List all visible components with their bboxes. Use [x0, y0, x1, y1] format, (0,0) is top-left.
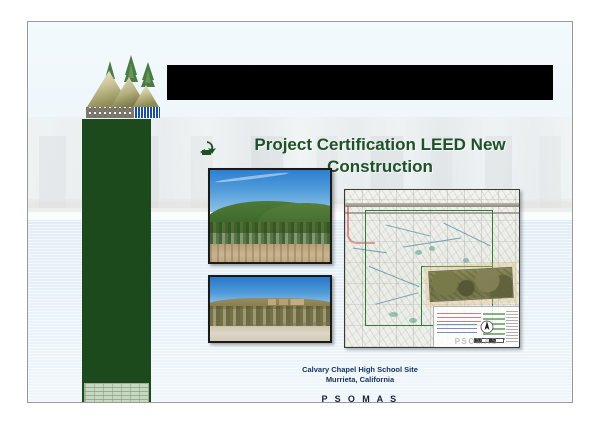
slide-canvas: Project Certification LEED New Construct… [28, 22, 572, 402]
north-arrow-icon [480, 319, 494, 335]
brand-name: P S O M A S [167, 394, 553, 402]
photo-cloud [215, 171, 289, 183]
site-photo-hillside [208, 168, 332, 264]
site-caption-line-1: Calvary Chapel High School Site [167, 365, 553, 375]
logo-wordmark-text [86, 107, 134, 118]
brandmark: P S O M A S Enhancing the Natural and Bu… [167, 394, 553, 402]
photo-ground-texture [210, 244, 330, 262]
map-legend-title [437, 310, 481, 322]
site-photo-dirt-road [208, 275, 332, 343]
logo-wordmark [86, 106, 160, 119]
leaf-arrow-icon [200, 140, 219, 157]
header-banner [167, 65, 553, 100]
site-caption: Calvary Chapel High School Site Murrieta… [167, 365, 553, 384]
map-legend-subtitle [437, 324, 477, 333]
page-root: Project Certification LEED New Construct… [0, 0, 600, 424]
mountains-trees-icon [85, 49, 161, 109]
map-legend: PSOMAS [433, 306, 519, 348]
psomas-logo [85, 49, 161, 123]
map-watermark: PSOMAS [434, 337, 519, 346]
sidebar-scorecard-table [84, 383, 149, 402]
map-aerial-photo-inset [428, 267, 514, 302]
photo-dirt-road [210, 326, 330, 341]
sidebar-scorecard-rows [85, 384, 148, 402]
photo-buildings [268, 299, 304, 304]
logo-wave-icon [135, 107, 160, 118]
sidebar-panel [82, 119, 151, 402]
site-location-map-exhibit: PSOMAS [344, 189, 520, 348]
slide-paper-frame: Project Certification LEED New Construct… [27, 21, 573, 403]
site-caption-line-2: Murrieta, California [167, 375, 553, 385]
